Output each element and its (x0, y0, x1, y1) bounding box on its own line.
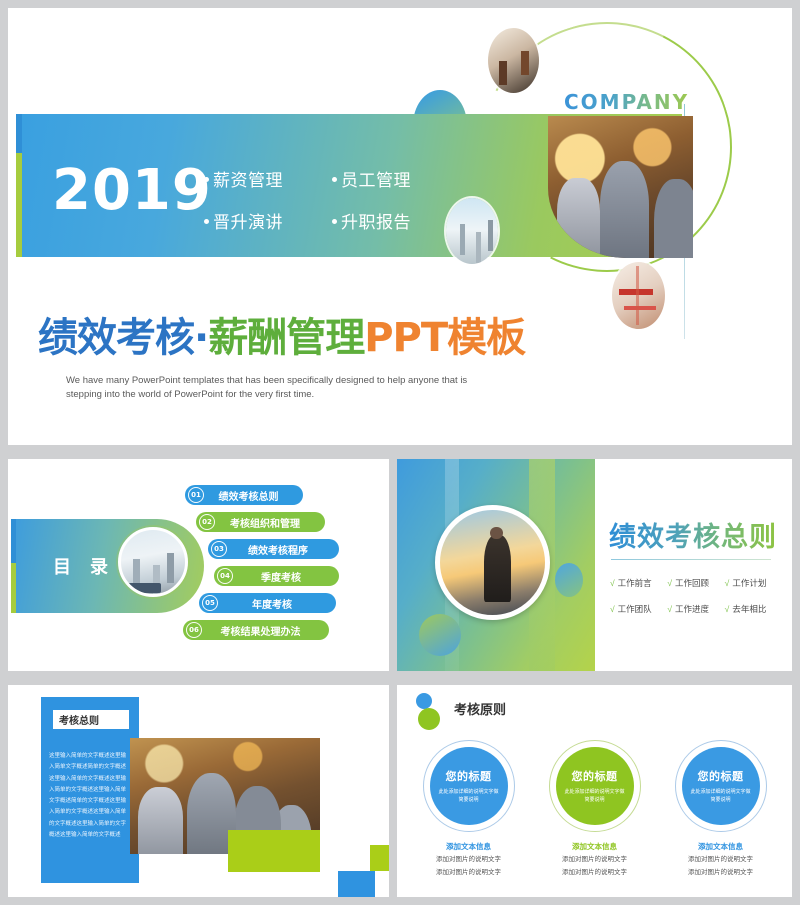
title-part-3: PPT模板 (364, 315, 525, 361)
businessman-sunrise-photo (435, 505, 550, 620)
content-heading: 考核总则 (59, 712, 99, 727)
slide-section-divider[interactable]: 绩效考核总则 √工作前言 √工作回顾 √工作计划 √工作团队 √工作进度 √去年… (397, 459, 792, 671)
keyword-item: 员工管理 (332, 166, 454, 191)
decorative-dot-green (418, 708, 440, 730)
city-window-photo (118, 527, 188, 597)
keyword-item: 晋升演讲 (204, 208, 332, 233)
toc-number: 05 (202, 595, 218, 611)
desk-books-photo (612, 262, 665, 329)
toc-item-label: 绩效考核总则 (204, 488, 303, 503)
check-item: √工作进度 (667, 603, 724, 615)
toc-item-label: 季度考核 (233, 569, 339, 584)
circle-title: 您的标题 (698, 768, 744, 784)
circle-desc: 此处添加详细的说明文字做简要说明 (564, 788, 626, 805)
check-icon: √ (610, 578, 615, 588)
caption-line: 添加对图片的说明文字 (541, 867, 649, 878)
section-title: 绩效考核总则 (609, 515, 777, 554)
keyword-label: 员工管理 (341, 171, 411, 190)
caption-line: 添加对图片的说明文字 (541, 854, 649, 865)
caption-title: 添加文本信息 (667, 841, 775, 852)
bullet-dot-icon (332, 219, 337, 224)
toc-item-04[interactable]: 04 季度考核 (214, 566, 339, 586)
check-icon: √ (667, 578, 672, 588)
team-meeting-photo (548, 116, 693, 258)
slide-deck-preview: 2019 薪资管理 员工管理 晋升演讲 升职报告 COMPANY 绩效考核·薪酬… (0, 0, 800, 905)
circles-row: 您的标题 此处添加详细的说明文字做简要说明 添加文本信息 添加对图片的说明文字 … (397, 747, 792, 879)
circle-badge[interactable]: 您的标题 此处添加详细的说明文字做简要说明 (682, 747, 760, 825)
check-label: 去年相比 (732, 604, 766, 614)
caption-line: 添加对图片的说明文字 (415, 867, 523, 878)
circle-card-2[interactable]: 您的标题 此处添加详细的说明文字做简要说明 添加文本信息 添加对图片的说明文字 … (541, 747, 649, 879)
toc-item-label: 绩效考核程序 (227, 542, 339, 557)
check-icon: √ (610, 604, 615, 614)
bullet-dot-icon (204, 177, 209, 182)
page-title: 绩效考核·薪酬管理PPT模板 (38, 305, 525, 363)
check-label: 工作计划 (732, 578, 766, 588)
check-item: √工作团队 (610, 603, 667, 615)
circle-card-3[interactable]: 您的标题 此处添加详细的说明文字做简要说明 添加文本信息 添加对图片的说明文字 … (667, 747, 775, 879)
company-label: COMPANY (564, 90, 689, 114)
slide-three-circles[interactable]: 考核原则 您的标题 此处添加详细的说明文字做简要说明 添加文本信息 添加对图片的… (397, 685, 792, 897)
content-body-text: 这里输入简单的文字概述这里输入简单文字概述简单的文字概述这里输入简单的文字概述这… (49, 751, 129, 841)
circle-desc: 此处添加详细的说明文字做简要说明 (438, 788, 500, 805)
check-item: √工作回顾 (667, 577, 724, 589)
content-heading-box: 考核总则 (53, 710, 129, 729)
keyword-label: 薪资管理 (213, 171, 283, 190)
circle-card-1[interactable]: 您的标题 此处添加详细的说明文字做简要说明 添加文本信息 添加对图片的说明文字 … (415, 747, 523, 879)
cover-subtitle: We have many PowerPoint templates that h… (66, 374, 496, 402)
decorative-circle-green (419, 614, 461, 656)
circle-badge[interactable]: 您的标题 此处添加详细的说明文字做简要说明 (556, 747, 634, 825)
toc-number: 06 (186, 622, 202, 638)
toc-label: 目 录 (53, 553, 115, 579)
cover-keyword-list: 薪资管理 员工管理 晋升演讲 升职报告 (204, 166, 454, 233)
decorative-circle-blue (555, 563, 583, 597)
caption-line: 添加对图片的说明文字 (667, 867, 775, 878)
check-label: 工作前言 (618, 578, 652, 588)
circle-title: 您的标题 (572, 768, 618, 784)
toc-number: 03 (211, 541, 227, 557)
toc-item-06[interactable]: 06 考核结果处理办法 (183, 620, 329, 640)
check-icon: √ (667, 604, 672, 614)
check-label: 工作回顾 (675, 578, 709, 588)
toc-item-03[interactable]: 03 绩效考核程序 (208, 539, 339, 559)
toc-item-label: 年度考核 (218, 596, 336, 611)
check-item: √工作前言 (610, 577, 667, 589)
toc-item-label: 考核结果处理办法 (202, 623, 329, 638)
toc-item-01[interactable]: 01 绩效考核总则 (185, 485, 303, 505)
bar-chart-photo (488, 28, 539, 93)
toc-item-05[interactable]: 05 年度考核 (199, 593, 336, 613)
keyword-label: 升职报告 (341, 213, 411, 232)
slide-content-text-image[interactable]: 考核总则 这里输入简单的文字概述这里输入简单文字概述简单的文字概述这里输入简单的… (8, 685, 389, 897)
circle-badge[interactable]: 您的标题 此处添加详细的说明文字做简要说明 (430, 747, 508, 825)
title-part-1: 绩效考核· (38, 315, 208, 361)
bullet-dot-icon (204, 219, 209, 224)
check-icon: √ (725, 578, 730, 588)
keyword-label: 晋升演讲 (213, 213, 283, 232)
keyword-item: 升职报告 (332, 208, 454, 233)
bullet-dot-icon (332, 177, 337, 182)
circles-heading: 考核原则 (454, 699, 506, 718)
decorative-square-green (370, 845, 389, 871)
decorative-square-blue (338, 871, 375, 897)
circle-desc: 此处添加详细的说明文字做简要说明 (690, 788, 752, 805)
check-label: 工作进度 (675, 604, 709, 614)
caption-line: 添加对图片的说明文字 (667, 854, 775, 865)
caption-title: 添加文本信息 (541, 841, 649, 852)
slide-cover[interactable]: 2019 薪资管理 员工管理 晋升演讲 升职报告 COMPANY 绩效考核·薪酬… (8, 8, 792, 445)
cover-year: 2019 (52, 158, 212, 223)
section-check-list: √工作前言 √工作回顾 √工作计划 √工作团队 √工作进度 √去年相比 (610, 577, 782, 615)
toc-item-02[interactable]: 02 考核组织和管理 (196, 512, 325, 532)
circle-title: 您的标题 (446, 768, 492, 784)
keyword-item: 薪资管理 (204, 166, 332, 191)
check-item: √工作计划 (725, 577, 782, 589)
toc-number: 01 (188, 487, 204, 503)
check-icon: √ (725, 604, 730, 614)
toc-item-label: 考核组织和管理 (215, 515, 325, 530)
toc-number: 04 (217, 568, 233, 584)
caption-line: 添加对图片的说明文字 (415, 854, 523, 865)
city-window-photo (446, 198, 498, 264)
title-part-2: 薪酬管理 (208, 315, 364, 361)
decorative-square-green (228, 830, 320, 872)
caption-title: 添加文本信息 (415, 841, 523, 852)
check-item: √去年相比 (725, 603, 782, 615)
check-label: 工作团队 (618, 604, 652, 614)
decorative-dot-blue (416, 693, 432, 709)
toc-number: 02 (199, 514, 215, 530)
section-divider-line (611, 559, 771, 560)
